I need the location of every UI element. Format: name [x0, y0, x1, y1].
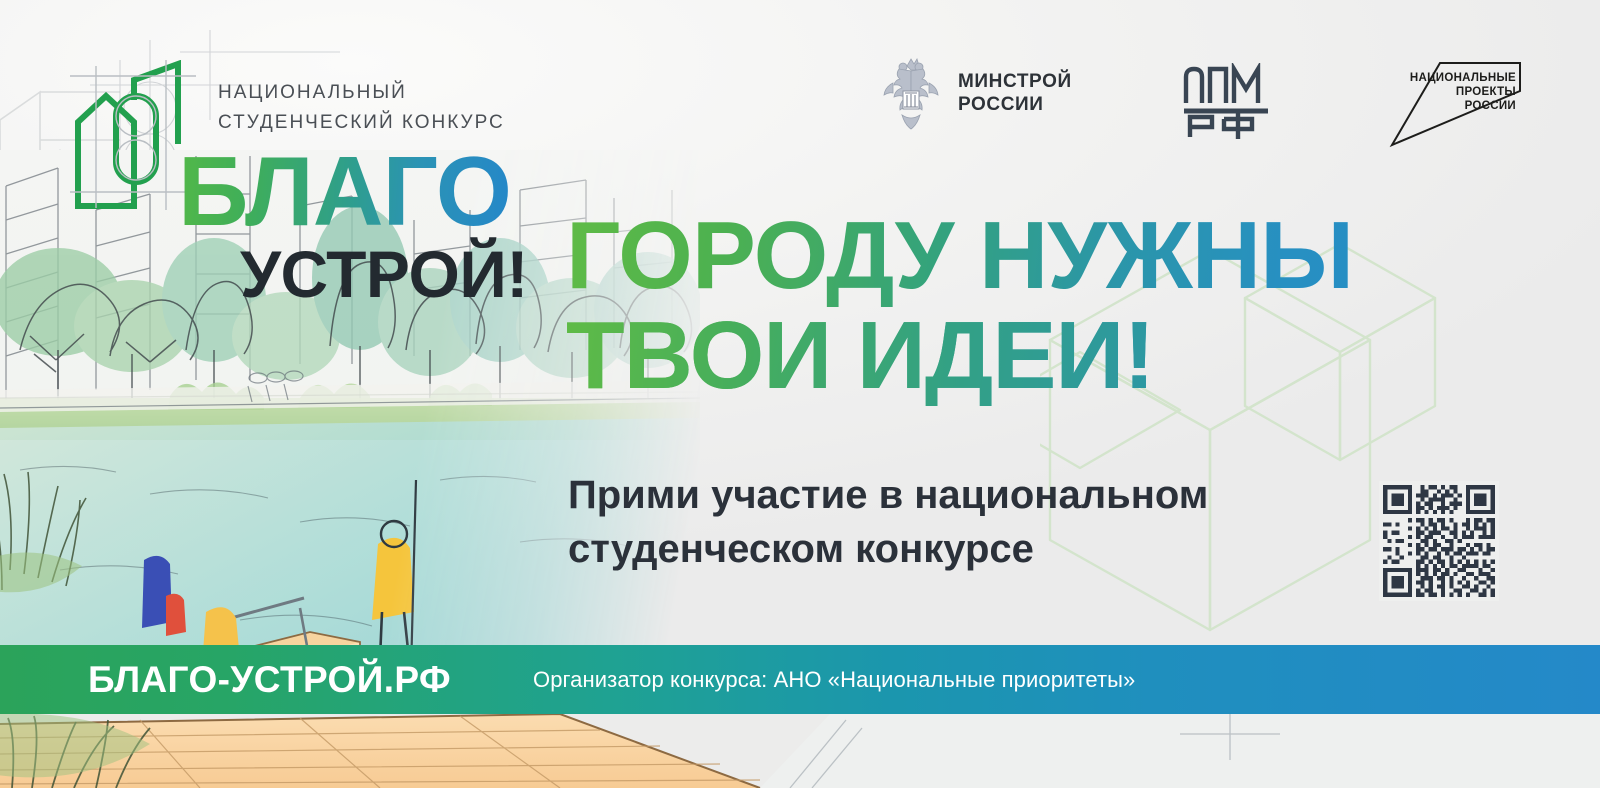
headline-line1: ГОРОДУ НУЖНЫ	[566, 206, 1526, 306]
brand-logo[interactable]: НАЦИОНАЛЬНЫЙ СТУДЕНЧЕСКИЙ КОНКУРС БЛАГО …	[70, 48, 520, 298]
dom-rf-monogram-icon[interactable]	[1180, 63, 1272, 139]
subtitle-line1: Прими участие в национальном	[568, 468, 1348, 522]
minstroy-wordmark: МИНСТРОЙ РОССИИ	[958, 70, 1072, 116]
headline: ГОРОДУ НУЖНЫ ТВОИ ИДЕИ!	[566, 206, 1526, 406]
svg-text:РОССИИ: РОССИИ	[1465, 100, 1516, 112]
minstroy-rossii-logo[interactable]: МИНСТРОЙ РОССИИ	[880, 55, 1072, 131]
logo-word-ustroy: УСТРОЙ!	[240, 241, 528, 307]
svg-text:НАЦИОНАЛЬНЫЕ: НАЦИОНАЛЬНЫЕ	[1410, 72, 1516, 84]
logo-word-blago: БЛАГО	[178, 142, 511, 240]
partner-logos: МИНСТРОЙ РОССИИ НАЦИОНАЛЬНЫЕ	[880, 55, 1540, 160]
double-headed-eagle-icon	[880, 55, 942, 131]
logo-kicker: НАЦИОНАЛЬНЫЙ СТУДЕНЧЕСКИЙ КОНКУРС	[218, 78, 505, 138]
deck-closeup	[0, 714, 1600, 788]
svg-text:ПРОЕКТЫ: ПРОЕКТЫ	[1456, 86, 1516, 98]
nacionalnye-proekty-rossii-logo[interactable]: НАЦИОНАЛЬНЫЕ ПРОЕКТЫ РОССИИ	[1388, 57, 1524, 149]
bottom-bar: БЛАГО-УСТРОЙ.РФ Организатор конкурса: АН…	[0, 645, 1600, 714]
headline-line2: ТВОИ ИДЕИ!	[566, 306, 1526, 406]
logo-kicker-line1: НАЦИОНАЛЬНЫЙ	[218, 78, 505, 108]
bottom-illustration-strip	[0, 714, 1600, 788]
site-url-link[interactable]: БЛАГО-УСТРОЙ.РФ	[88, 659, 451, 701]
qr-code-icon[interactable]	[1379, 481, 1499, 601]
minstroy-line1: МИНСТРОЙ	[958, 70, 1072, 93]
logo-kicker-line2: СТУДЕНЧЕСКИЙ КОНКУРС	[218, 108, 505, 138]
subtitle-line2: студенческом конкурсе	[568, 522, 1348, 576]
subtitle: Прими участие в национальном студенческо…	[568, 468, 1348, 576]
organizer-text: Организатор конкурса: АНО «Национальные …	[533, 667, 1135, 693]
minstroy-line2: РОССИИ	[958, 93, 1072, 116]
promo-banner: НАЦИОНАЛЬНЫЙ СТУДЕНЧЕСКИЙ КОНКУРС БЛАГО …	[0, 0, 1600, 788]
